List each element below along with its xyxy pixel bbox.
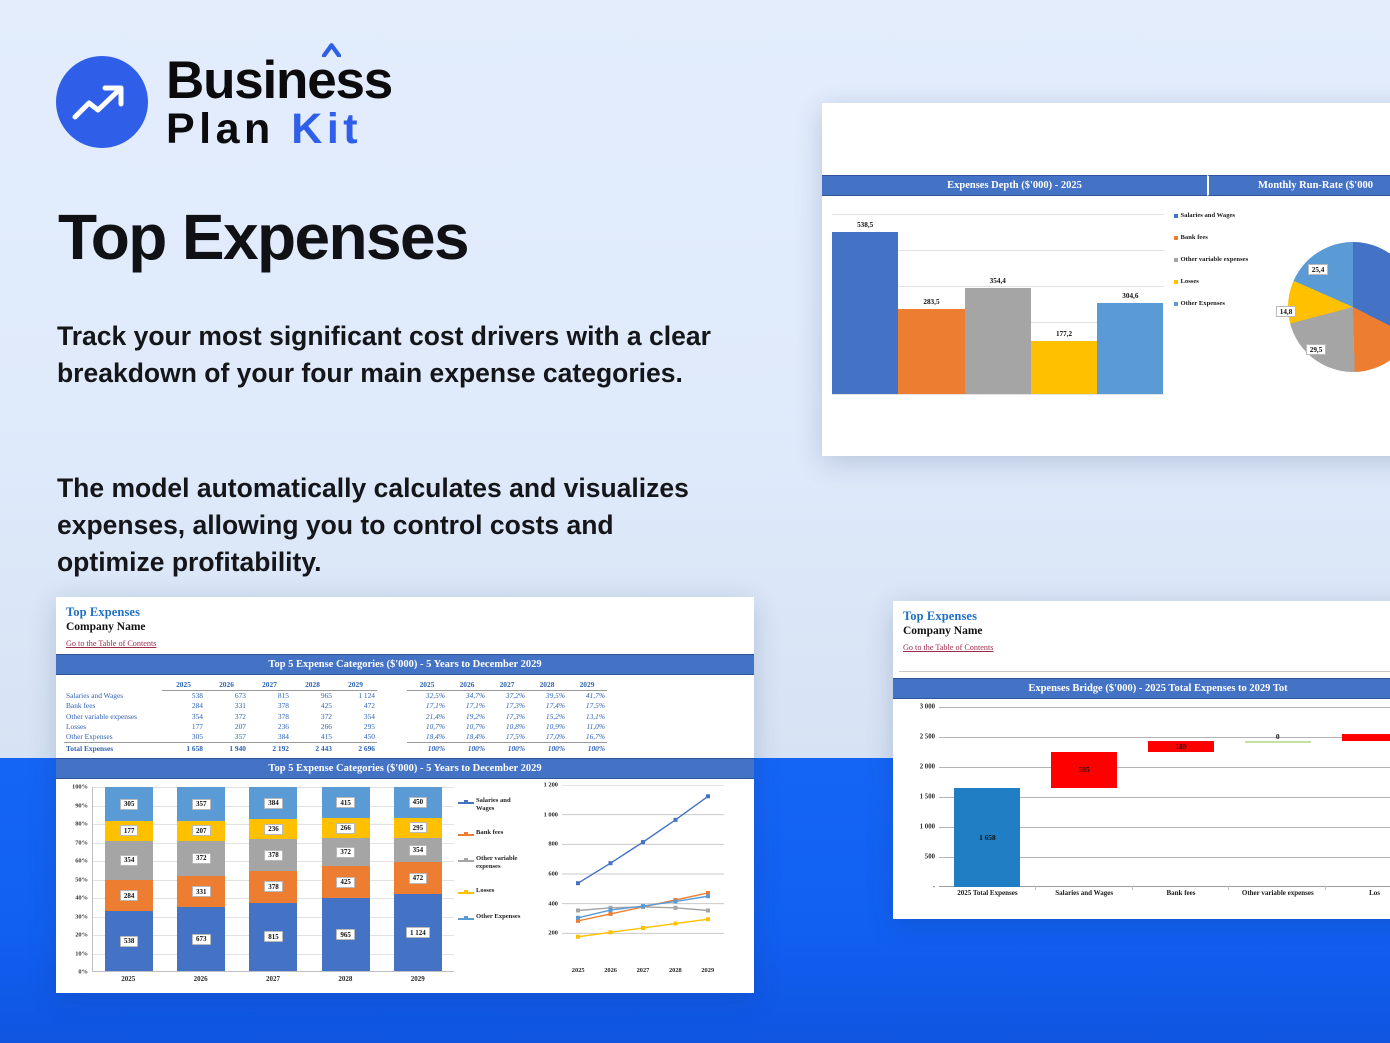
cell: 284 [162, 701, 205, 711]
legend-item: Bank fees [1174, 234, 1249, 242]
stacked-bar-chart: 0%10%20%30%40%50%60%70%80%90%100%3051773… [60, 781, 458, 993]
cell: 384 [248, 731, 291, 742]
y-tick-label: 400 [548, 900, 558, 907]
x-tick-label: 2025 Total Expenses [939, 889, 1036, 897]
cell: 372 [291, 711, 334, 721]
sheet-company-name: Company Name [66, 621, 744, 633]
x-tick-label: 2028 [669, 967, 682, 974]
legend-label: Losses [1181, 278, 1199, 286]
total-cell: 1 658 [162, 742, 205, 753]
legend-item: Other Expenses [1174, 300, 1249, 308]
y-tick-label: 2 500 [920, 734, 935, 741]
bar-value-label: 815 [264, 931, 283, 942]
col-year: 2029 [334, 679, 377, 690]
cell: 17,3% [487, 711, 527, 721]
cell: 965 [291, 690, 334, 701]
bar-segment: 378 [249, 839, 297, 871]
cell: 372 [205, 711, 248, 721]
waterfall-bar: 1 658 [954, 788, 1020, 887]
total-cell: 100% [487, 742, 527, 753]
brand-name-plan: Plan [166, 105, 275, 153]
col-year: 2026 [205, 679, 248, 690]
row-label: Bank fees [64, 701, 162, 711]
depth-bar: 177,2 [1031, 341, 1097, 394]
table-row: Other Expenses 305 357 384 415 450 [64, 731, 377, 742]
depth-bar: 283,5 [898, 309, 964, 394]
x-tick-label: 2025 [572, 967, 585, 974]
cell: 17,5% [487, 731, 527, 742]
y-tick-label: 100% [72, 784, 88, 791]
total-cell: 2 192 [248, 742, 291, 753]
cell: 354 [334, 711, 377, 721]
bar-segment: 207 [177, 821, 225, 841]
table-row: 17,1% 17,1% 17,3% 17,4% 17,5% [407, 701, 607, 711]
cell: 10,8% [487, 721, 527, 731]
table-of-contents-link[interactable]: Go to the Table of Contents [903, 643, 993, 652]
stacked-bar: 384236378378815 [249, 787, 297, 971]
bar-value-label: 472 [409, 873, 428, 884]
expenses-depth-bar-chart: 538,5283,5354,4177,2304,6 [822, 202, 1170, 417]
total-cell: 2 443 [291, 742, 334, 753]
waterfall-columns: 1 6585851890 [939, 707, 1390, 886]
stacked-chart-x-axis: 20252026202720282029 [92, 975, 454, 983]
x-tick-label: Other variable expenses [1229, 889, 1326, 897]
x-tick-label: 2029 [394, 975, 442, 983]
legend-item: Bank fees [458, 829, 530, 839]
bar-value-label: 177 [120, 825, 139, 836]
depth-chart-plot: 538,5283,5354,4177,2304,6 [832, 214, 1164, 394]
bar-value-label: 538 [120, 936, 139, 947]
legend-swatch [1174, 280, 1178, 284]
legend-swatch [1174, 302, 1178, 306]
table-row: 32,5% 34,7% 37,2% 39,5% 41,7% [407, 690, 607, 701]
bar-value-label: 384 [264, 798, 283, 809]
cell: 41,7% [567, 690, 607, 701]
bar-value-label: 673 [192, 934, 211, 945]
x-tick-label: 2027 [637, 967, 650, 974]
bar-segment: 357 [177, 787, 225, 821]
bar-value-label: 283,5 [898, 298, 964, 306]
y-tick-label: - [933, 884, 935, 891]
bar-value-label: 304,6 [1097, 292, 1163, 300]
bar-segment: 372 [177, 841, 225, 876]
y-tick-label: 600 [548, 871, 558, 878]
bar-segment: 415 [322, 787, 370, 818]
absolute-values-table: 2025 2026 2027 2028 2029 Salaries and Wa… [64, 679, 377, 753]
x-tick-label: 2026 [177, 975, 225, 983]
chart-band-title: Top 5 Expense Categories ($'000) - 5 Yea… [56, 758, 754, 779]
sheet-title: Top Expenses [66, 605, 744, 620]
stacked-bar: 305177354284538 [105, 787, 153, 971]
bar-value-label: 1 124 [406, 927, 430, 938]
table-header-row: 2025 2026 2027 2028 2029 [407, 679, 607, 690]
expense-categories-sheet-panel: Top Expenses Company Name Go to the Tabl… [56, 597, 754, 993]
bar-value-label: 357 [192, 799, 211, 810]
sheet-header: Top Expenses Company Name Go to the Tabl… [893, 601, 1390, 658]
cell: 17,4% [527, 701, 567, 711]
cell: 10,9% [527, 721, 567, 731]
depth-bar: 538,5 [832, 232, 898, 394]
table-of-contents-link[interactable]: Go to the Table of Contents [66, 639, 156, 648]
cell: 19,2% [447, 711, 487, 721]
bar-value-label: 331 [192, 886, 211, 897]
chart-legend: Salaries and WagesBank feesOther variabl… [458, 781, 530, 993]
depth-chart-legend: Salaries and WagesBank feesOther variabl… [1170, 202, 1249, 424]
waterfall-plot: 1 6585851890 [939, 707, 1390, 887]
cell: 425 [291, 701, 334, 711]
hero-paragraph-1: Track your most significant cost drivers… [57, 318, 737, 392]
col-year: 2029 [567, 679, 607, 690]
cell: 236 [248, 721, 291, 731]
cell: 295 [334, 721, 377, 731]
panel-b-band-row: Expenses Depth ($'000) - 2025 Monthly Ru… [822, 175, 1390, 196]
expenses-depth-band-title: Expenses Depth ($'000) - 2025 [822, 175, 1207, 196]
circumflex-accent-icon [322, 43, 341, 57]
y-tick-label: 2 000 [920, 764, 935, 771]
bar-value-label: 305 [120, 799, 139, 810]
bar-value-label: 378 [264, 881, 283, 892]
brand-name-kit: Kit [291, 105, 362, 153]
legend-label: Other variable expenses [1181, 256, 1249, 264]
cell: 10,7% [407, 721, 447, 731]
trend-arrow-icon [56, 56, 148, 148]
cell: 21,4% [407, 711, 447, 721]
bar-segment: 284 [105, 880, 153, 912]
cell: 15,2% [527, 711, 567, 721]
legend-swatch [458, 831, 474, 839]
table-row: 18,4% 18,4% 17,5% 17,0% 16,7% [407, 731, 607, 742]
table-header-row: 2025 2026 2027 2028 2029 [64, 679, 377, 690]
cell: 10,7% [447, 721, 487, 731]
row-label: Losses [64, 721, 162, 731]
total-cell: 100% [447, 742, 487, 753]
slide-canvas: Business Plan Kit Top Expenses Track you… [0, 0, 1390, 1043]
legend-item: Losses [458, 887, 530, 897]
cell: 378 [248, 701, 291, 711]
waterfall-x-axis: 2025 Total ExpensesSalaries and WagesBan… [939, 889, 1390, 897]
line-chart-y-axis: 2004006008001 0001 200 [530, 785, 560, 963]
table-row: Other variable expenses 354 372 378 372 … [64, 711, 377, 721]
bar-value-label: 266 [336, 823, 355, 834]
bar-segment: 372 [322, 838, 370, 866]
y-tick-label: 1 500 [920, 794, 935, 801]
table-row: Salaries and Wages 538 673 815 965 1 124 [64, 690, 377, 701]
bridge-band-title: Expenses Bridge ($'000) - 2025 Total Exp… [893, 678, 1390, 699]
percentage-values-table: 2025 2026 2027 2028 2029 32,5% 34,7% 37,… [407, 679, 607, 753]
cell: 11,0% [567, 721, 607, 731]
total-cell: 100% [407, 742, 447, 753]
stacked-chart-y-axis: 0%10%20%30%40%50%60%70%80%90%100% [60, 787, 90, 972]
cell: 1 124 [334, 690, 377, 701]
x-tick-label: 2029 [701, 967, 714, 974]
legend-label: Bank fees [476, 829, 503, 837]
x-tick-label: 2025 [104, 975, 152, 983]
total-cell: 1 940 [205, 742, 248, 753]
legend-label: Other variable expenses [476, 855, 530, 871]
stacked-chart-plot: 3051773542845383572073723316733842363783… [92, 787, 454, 972]
legend-item: Salaries and Wages [1174, 212, 1249, 220]
bar-value-label: 236 [264, 824, 283, 835]
x-tick-label: Bank fees [1133, 889, 1230, 897]
bar-value-label: 425 [336, 877, 355, 888]
col-year: 2027 [248, 679, 291, 690]
y-tick-label: 0% [78, 969, 88, 976]
total-cell: 100% [567, 742, 607, 753]
waterfall-column [1326, 707, 1390, 886]
brand-logo: Business Plan Kit [56, 52, 392, 151]
stack-group: 3051773542845383572073723316733842363783… [93, 787, 454, 971]
y-tick-label: 1 000 [544, 811, 558, 818]
row-label: Other variable expenses [64, 711, 162, 721]
bar-value-label: 354 [409, 845, 428, 856]
expense-tables: 2025 2026 2027 2028 2029 Salaries and Wa… [56, 675, 754, 755]
bar-value-label: 295 [409, 822, 428, 833]
waterfall-bar: 189 [1148, 741, 1214, 752]
y-tick-label: 200 [548, 930, 558, 937]
panel-a-charts: 0%10%20%30%40%50%60%70%80%90%100%3051773… [56, 779, 754, 993]
waterfall-bar: 585 [1051, 752, 1117, 787]
row-label: Other Expenses [64, 731, 162, 742]
depth-bar: 304,6 [1097, 303, 1163, 394]
sheet-title: Top Expenses [903, 609, 1390, 624]
bar-segment: 378 [249, 871, 297, 903]
cell: 815 [248, 690, 291, 701]
bar-segment: 384 [249, 787, 297, 819]
sheet-company-name: Company Name [903, 625, 1390, 637]
bar-value-label: 207 [192, 825, 211, 836]
bar-value-label: 450 [409, 797, 428, 808]
legend-item: Other Expenses [458, 913, 530, 923]
legend-item: Losses [1174, 278, 1249, 286]
bar-segment: 450 [394, 787, 442, 818]
monthly-run-rate-pie-chart: 25,4 14,8 29,5 [1248, 202, 1390, 417]
bar-segment: 266 [322, 818, 370, 838]
cell: 354 [162, 711, 205, 721]
cell: 16,7% [567, 731, 607, 742]
pie-label: 25,4 [1308, 264, 1328, 275]
bar-segment: 673 [177, 907, 225, 971]
bar-value-label: 585 [1079, 765, 1090, 774]
cell: 450 [334, 731, 377, 742]
x-tick-label: 2026 [604, 967, 617, 974]
col-year: 2028 [291, 679, 334, 690]
cell: 17,1% [447, 701, 487, 711]
bar-value-label: 415 [336, 797, 355, 808]
hero-paragraph-2: The model automatically calculates and v… [57, 470, 717, 581]
legend-label: Bank fees [1181, 234, 1208, 242]
cell: 13,1% [567, 711, 607, 721]
depth-bar: 354,4 [965, 288, 1031, 394]
waterfall-bar: 0 [1245, 741, 1311, 743]
total-label: Total Expenses [64, 742, 162, 753]
table-row: 21,4% 19,2% 17,3% 15,2% 13,1% [407, 711, 607, 721]
waterfall-column: 1 658 [939, 707, 1036, 886]
brand-name-line1: Business [166, 51, 392, 110]
depth-bar-group: 538,5283,5354,4177,2304,6 [832, 214, 1164, 394]
bar-value-label: 0 [1276, 732, 1280, 741]
bar-value-label: 372 [336, 847, 355, 858]
cell: 472 [334, 701, 377, 711]
waterfall-column: 585 [1036, 707, 1133, 886]
waterfall-chart: -5001 0001 5002 0002 5003 0001 658585189… [893, 699, 1390, 919]
cell: 17,1% [407, 701, 447, 711]
x-tick-label: Salaries and Wages [1036, 889, 1133, 897]
cell: 37,2% [487, 690, 527, 701]
cell: 17,5% [567, 701, 607, 711]
sheet-header: Top Expenses Company Name Go to the Tabl… [56, 597, 754, 654]
cell: 177 [162, 721, 205, 731]
bar-value-label: 189 [1175, 742, 1186, 751]
cell: 32,5% [407, 690, 447, 701]
bar-segment: 295 [394, 818, 442, 838]
bar-segment: 425 [322, 866, 370, 898]
cell: 39,5% [527, 690, 567, 701]
stacked-bar: 357207372331673 [177, 787, 225, 971]
y-tick-label: 40% [75, 895, 88, 902]
pie-slices [1288, 242, 1390, 372]
page-title: Top Expenses [58, 200, 468, 274]
bar-segment: 331 [177, 876, 225, 907]
legend-swatch [458, 799, 474, 807]
y-tick-label: 30% [75, 913, 88, 920]
legend-swatch [1174, 214, 1178, 218]
bar-value-label: 177,2 [1031, 330, 1097, 338]
bar-value-label: 538,5 [832, 221, 898, 229]
pie-label: 14,8 [1276, 306, 1296, 317]
line-chart: 2004006008001 0001 200202520262027202820… [530, 781, 730, 993]
pie-label: 29,5 [1306, 344, 1326, 355]
cell: 673 [205, 690, 248, 701]
bar-segment: 354 [394, 838, 442, 862]
legend-label: Salaries and Wages [1181, 212, 1235, 220]
y-tick-label: 500 [925, 854, 935, 861]
table-row: 10,7% 10,7% 10,8% 10,9% 11,0% [407, 721, 607, 731]
bar-segment: 177 [105, 821, 153, 841]
cell: 18,4% [447, 731, 487, 742]
legend-swatch [458, 857, 474, 865]
y-tick-label: 70% [75, 839, 88, 846]
expenses-depth-panel: Expenses Depth ($'000) - 2025 Monthly Ru… [822, 103, 1390, 456]
waterfall-bar [1342, 734, 1390, 741]
legend-swatch [1174, 236, 1178, 240]
cell: 34,7% [447, 690, 487, 701]
y-tick-label: 1 200 [544, 782, 558, 789]
legend-label: Losses [476, 887, 494, 895]
panel-b-charts: 538,5283,5354,4177,2304,6 Salaries and W… [822, 196, 1390, 424]
legend-swatch [458, 889, 474, 897]
cell: 17,0% [527, 731, 567, 742]
y-tick-label: 10% [75, 950, 88, 957]
bar-segment: 815 [249, 903, 297, 971]
cell: 331 [205, 701, 248, 711]
total-cell: 100% [527, 742, 567, 753]
line-chart-x-axis: 20252026202720282029 [562, 967, 724, 974]
cell: 266 [291, 721, 334, 731]
table-gap [381, 679, 403, 753]
total-cell: 2 696 [334, 742, 377, 753]
legend-item: Other variable expenses [1174, 256, 1249, 264]
legend-label: Other Expenses [476, 913, 520, 921]
monthly-run-rate-band-title: Monthly Run-Rate ($'000 [1207, 175, 1390, 196]
cell: 17,3% [487, 701, 527, 711]
bar-value-label: 284 [120, 890, 139, 901]
x-tick-label: 2027 [249, 975, 297, 983]
line-chart-plot [562, 785, 724, 963]
bar-value-label: 372 [192, 853, 211, 864]
table-band-title: Top 5 Expense Categories ($'000) - 5 Yea… [56, 654, 754, 675]
bar-value-label: 965 [336, 929, 355, 940]
row-label: Salaries and Wages [64, 690, 162, 701]
bar-segment: 965 [322, 898, 370, 971]
legend-swatch [458, 915, 474, 923]
bar-segment: 538 [105, 911, 153, 971]
col-year: 2027 [487, 679, 527, 690]
stacked-bar: 4502953544721 124 [394, 787, 442, 971]
col-year: 2025 [407, 679, 447, 690]
col-year: 2028 [527, 679, 567, 690]
bar-value-label: 378 [264, 850, 283, 861]
bar-value-label: 1 658 [979, 833, 996, 842]
y-tick-label: 50% [75, 876, 88, 883]
legend-item: Salaries and Wages [458, 797, 530, 813]
cell: 207 [205, 721, 248, 731]
y-tick-label: 60% [75, 858, 88, 865]
waterfall-column: 0 [1229, 707, 1326, 886]
legend-item: Other variable expenses [458, 855, 530, 871]
bar-segment: 472 [394, 862, 442, 894]
expenses-bridge-panel: Top Expenses Company Name Go to the Tabl… [893, 601, 1390, 919]
waterfall-y-axis: -5001 0001 5002 0002 5003 000 [897, 707, 937, 887]
bar-value-label: 354,4 [965, 277, 1031, 285]
table-row: Bank fees 284 331 378 425 472 [64, 701, 377, 711]
bar-segment: 305 [105, 787, 153, 821]
stacked-bar: 415266372425965 [322, 787, 370, 971]
bar-segment: 236 [249, 819, 297, 839]
bar-segment: 1 124 [394, 894, 442, 971]
cell: 357 [205, 731, 248, 742]
cell: 18,4% [407, 731, 447, 742]
bar-value-label: 354 [120, 855, 139, 866]
cell: 538 [162, 690, 205, 701]
legend-swatch [1174, 258, 1178, 262]
x-tick-label: Los [1326, 889, 1390, 897]
cell: 415 [291, 731, 334, 742]
y-tick-label: 90% [75, 802, 88, 809]
waterfall-column: 189 [1133, 707, 1230, 886]
y-tick-label: 20% [75, 932, 88, 939]
x-tick-label: 2028 [321, 975, 369, 983]
gridline [832, 394, 1164, 395]
col-year: 2025 [162, 679, 205, 690]
bar-segment: 354 [105, 841, 153, 880]
y-tick-label: 3 000 [920, 704, 935, 711]
col-year: 2026 [447, 679, 487, 690]
divider [899, 662, 1390, 672]
table-total-row: Total Expenses 1 658 1 940 2 192 2 443 2… [64, 742, 377, 753]
y-tick-label: 800 [548, 841, 558, 848]
y-tick-label: 80% [75, 821, 88, 828]
table-total-row: 100% 100% 100% 100% 100% [407, 742, 607, 753]
cell: 378 [248, 711, 291, 721]
legend-label: Other Expenses [1181, 300, 1225, 308]
legend-label: Salaries and Wages [476, 797, 530, 813]
table-row: Losses 177 207 236 266 295 [64, 721, 377, 731]
cell: 305 [162, 731, 205, 742]
y-tick-label: 1 000 [920, 824, 935, 831]
